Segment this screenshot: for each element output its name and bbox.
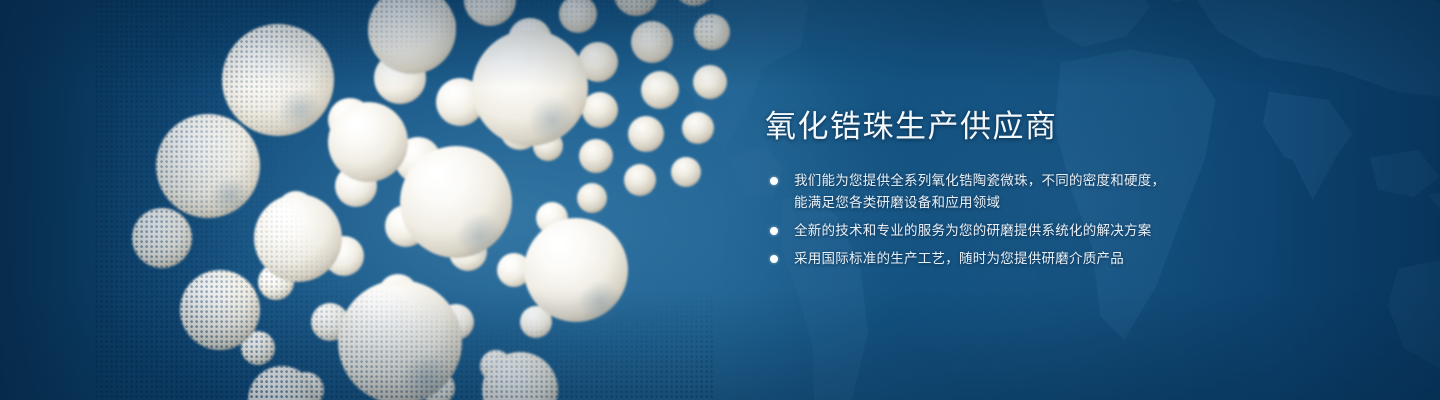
bullet-dot-icon [770, 227, 778, 235]
feature-item-1: 我们能为您提供全系列氧化锆陶瓷微珠，不同的密度和硬度， 能满足您各类研磨设备和应… [768, 170, 1313, 214]
feature-item-3: 采用国际标准的生产工艺，随时为您提供研磨介质产品 [768, 248, 1313, 270]
feature-item-2-line-1: 全新的技术和专业的服务为您的研磨提供系统化的解决方案 [794, 220, 1313, 242]
banner-headline: 氧化锆珠生产供应商 [765, 110, 1058, 144]
bullet-dot-icon [770, 177, 778, 185]
feature-item-2: 全新的技术和专业的服务为您的研磨提供系统化的解决方案 [768, 220, 1313, 242]
bullet-dot-icon [770, 255, 778, 263]
banner-feature-list: 我们能为您提供全系列氧化锆陶瓷微珠，不同的密度和硬度， 能满足您各类研磨设备和应… [768, 170, 1313, 270]
banner-content: 氧化锆珠生产供应商 我们能为您提供全系列氧化锆陶瓷微珠，不同的密度和硬度， 能满… [765, 0, 1325, 400]
feature-item-1-line-1: 我们能为您提供全系列氧化锆陶瓷微珠，不同的密度和硬度， [794, 170, 1313, 192]
hero-banner: 氧化锆珠生产供应商 我们能为您提供全系列氧化锆陶瓷微珠，不同的密度和硬度， 能满… [0, 0, 1440, 400]
feature-item-3-line-1: 采用国际标准的生产工艺，随时为您提供研磨介质产品 [794, 248, 1313, 270]
feature-item-1-line-2: 能满足您各类研磨设备和应用领域 [794, 192, 1313, 214]
